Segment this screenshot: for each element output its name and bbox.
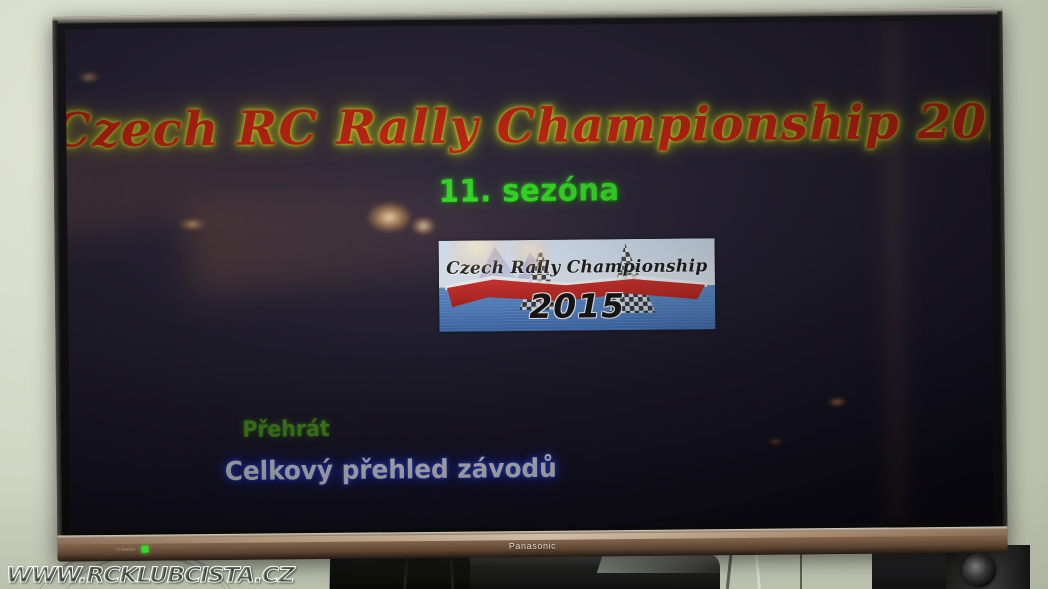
photo-scene: Czech RC Rally Championship 2015 11. sez… [0, 0, 1048, 589]
screen-glare-small [179, 218, 205, 230]
dvd-menu: Přehrát Celkový přehled závodů [224, 415, 574, 487]
championship-logo: Czech Rally Championship 2015 [439, 238, 716, 332]
cable [800, 551, 802, 589]
season-subtitle: 11. sezóna [95, 169, 964, 213]
screen-glare-small-2 [78, 71, 100, 83]
menu-item-overview[interactable]: Celkový přehled závodů [225, 454, 557, 487]
page-title: Czech RC Rally Championship 2015 [66, 94, 995, 158]
logo-script-text: Czech Rally Championship [439, 256, 715, 279]
logo-year-text: 2015 [439, 285, 715, 327]
tv-screen[interactable]: Czech RC Rally Championship 2015 11. sez… [66, 21, 995, 532]
screen-glare-lamp-2 [412, 218, 434, 234]
television: Czech RC Rally Championship 2015 11. sez… [52, 7, 1007, 561]
dark-box [872, 549, 946, 589]
speaker-cone-icon [962, 553, 996, 587]
menu-item-play[interactable]: Přehrát [242, 415, 550, 443]
screen-glare-small-3 [827, 397, 847, 407]
screen-glare-small-4 [767, 438, 783, 446]
